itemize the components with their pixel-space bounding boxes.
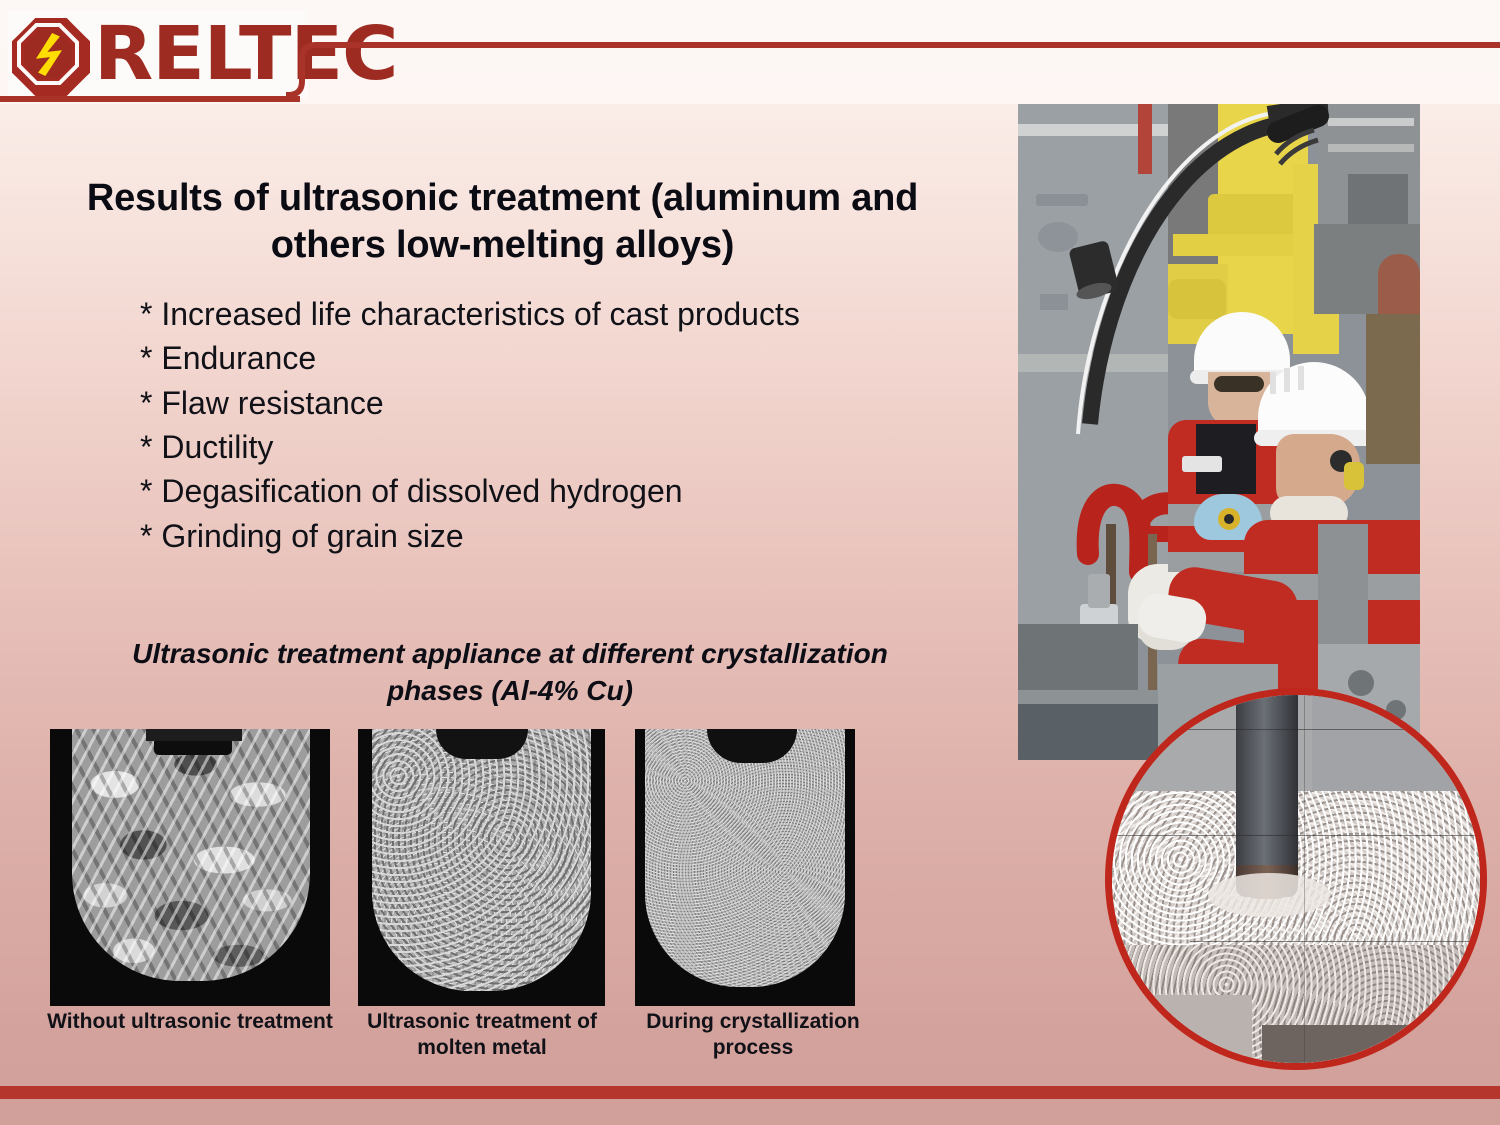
reltec-logo: RELTEC	[8, 10, 308, 98]
slide-header: RELTEC	[0, 0, 1500, 104]
header-rule-top	[330, 42, 1500, 48]
list-item: * Flaw resistance	[140, 381, 960, 425]
fine-grain-macrostructure-image	[635, 729, 855, 1006]
reltec-octagon-lightning-logo-icon	[8, 14, 88, 94]
section-subheading: Ultrasonic treatment appliance at differ…	[120, 635, 900, 709]
list-item: * Ductility	[140, 425, 960, 469]
micrograph-caption: Without ultrasonic treatment	[42, 1009, 338, 1035]
workers-operating-ultrasonic-equipment-photo	[1018, 104, 1420, 760]
micrograph-caption: During crystallization process	[620, 1009, 886, 1060]
header-scurve-connector	[286, 38, 346, 102]
slide: RELTEC Results of ultrasonic treatment (…	[0, 0, 1500, 1125]
header-rule-bottom	[0, 96, 300, 102]
bullet-list: * Increased life characteristics of cast…	[140, 292, 960, 558]
footer-accent-bar	[0, 1086, 1500, 1099]
list-item: * Endurance	[140, 336, 960, 380]
brand-wordmark: RELTEC	[94, 17, 397, 91]
list-item: * Increased life characteristics of cast…	[140, 292, 960, 336]
sonotrode-in-molten-metal-photo	[1105, 688, 1487, 1070]
coarse-grain-macrostructure-image	[50, 729, 330, 1006]
list-item: * Degasification of dissolved hydrogen	[140, 469, 960, 513]
medium-grain-macrostructure-image	[358, 729, 605, 1006]
list-item: * Grinding of grain size	[140, 514, 960, 558]
slide-title: Results of ultrasonic treatment (aluminu…	[40, 175, 965, 269]
micrograph-caption: Ultrasonic treatment of molten metal	[352, 1009, 612, 1060]
